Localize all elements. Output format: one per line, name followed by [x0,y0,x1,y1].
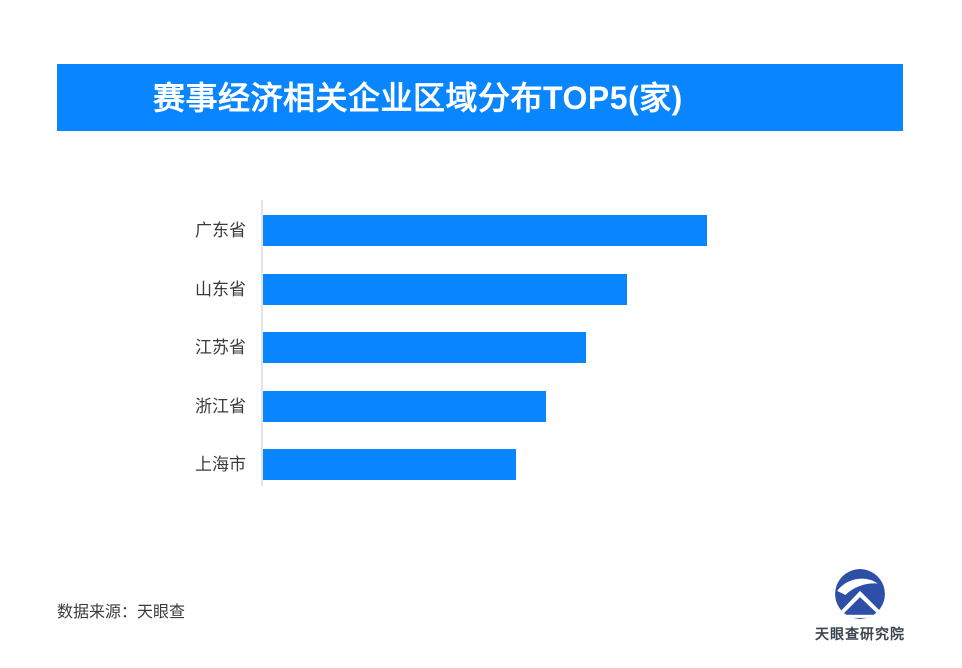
tianyancha-logo-icon [834,568,886,620]
bar-track [263,215,707,246]
bar-row: 山东省 [0,274,962,305]
infographic-canvas: 赛事经济相关企业区域分布TOP5(家) 广东省山东省江苏省浙江省上海市 数据来源… [0,0,962,668]
bar-track [263,391,546,422]
bar-row: 浙江省 [0,391,962,422]
bar-fill [263,449,516,480]
bar-category-label: 江苏省 [120,332,246,363]
bar-fill [263,274,627,305]
bar-row: 广东省 [0,215,962,246]
bar-row: 上海市 [0,449,962,480]
bar-fill [263,391,546,422]
bar-category-label: 山东省 [120,274,246,305]
brand-logo: 天眼查研究院 [800,568,920,650]
bar-rows-container: 广东省山东省江苏省浙江省上海市 [0,180,962,500]
bar-track [263,449,516,480]
bar-category-label: 广东省 [120,215,246,246]
title-banner: 赛事经济相关企业区域分布TOP5(家) [57,64,903,131]
bar-track [263,332,586,363]
bar-row: 江苏省 [0,332,962,363]
brand-logo-text: 天眼查研究院 [815,624,905,644]
bar-chart: 广东省山东省江苏省浙江省上海市 [0,180,962,500]
bar-fill [263,215,707,246]
bar-track [263,274,627,305]
bar-category-label: 上海市 [120,449,246,480]
bar-fill [263,332,586,363]
bar-category-label: 浙江省 [120,391,246,422]
data-source-note: 数据来源：天眼查 [57,598,185,622]
page-title: 赛事经济相关企业区域分布TOP5(家) [153,82,683,114]
